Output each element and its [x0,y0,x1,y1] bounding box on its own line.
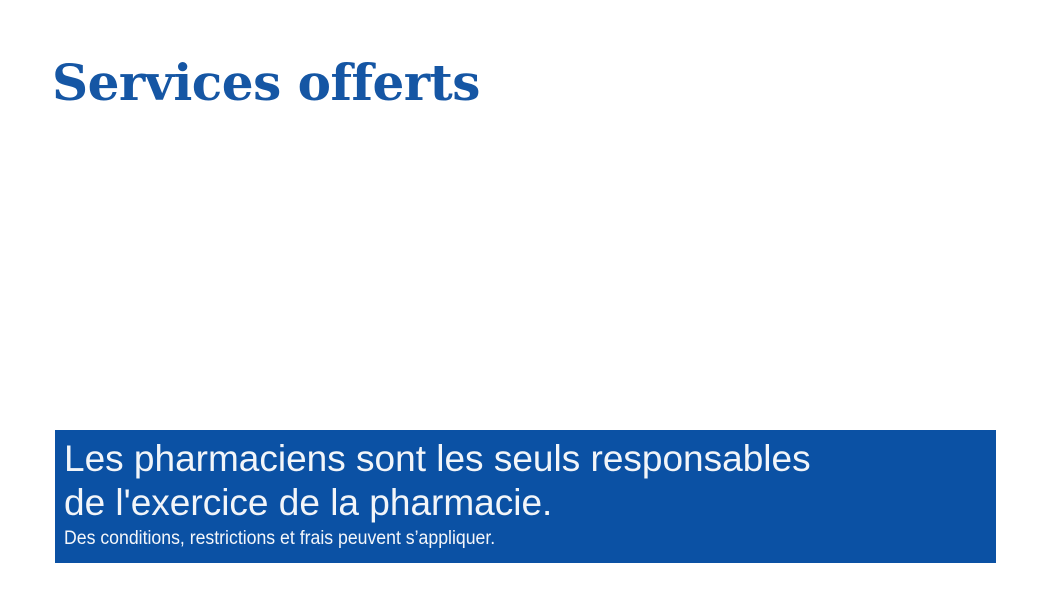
callout-note: Des conditions, restrictions et frais pe… [64,527,920,551]
slide-content-placeholder [55,130,996,425]
page-title: Services offerts [52,58,480,108]
callout-banner: Les pharmaciens sont les seuls responsab… [55,430,996,563]
callout-line-1: Les pharmaciens sont les seuls responsab… [64,437,984,481]
slide-canvas: Services offerts Les pharmaciens sont le… [0,0,1050,600]
callout-line-2: de l'exercice de la pharmacie. [64,481,984,525]
